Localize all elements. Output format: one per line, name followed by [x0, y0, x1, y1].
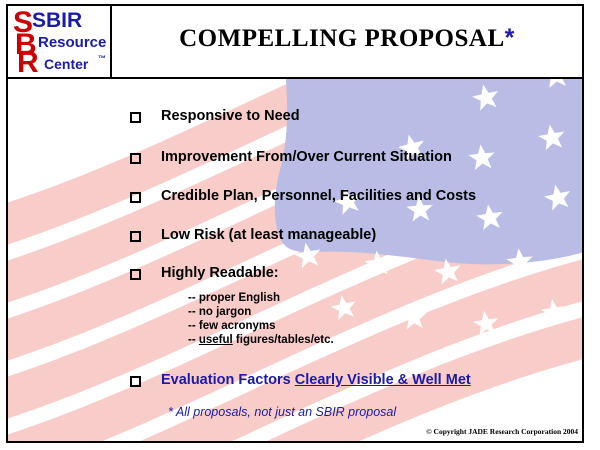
sub-list-item-label: no jargon [199, 306, 251, 318]
list-item: Credible Plan, Personnel, Facilities and… [130, 189, 476, 205]
list-item-evaluation-factors: Evaluation Factors Clearly Visible & Wel… [130, 373, 471, 389]
list-item: Improvement From/Over Current Situation [130, 150, 452, 166]
logo-text-sbir: SBIR [32, 10, 82, 31]
list-item: Responsive to Need [130, 109, 300, 125]
checkbox-square-icon [130, 376, 141, 387]
sub-list-item: -- useful figures/tables/etc. [188, 333, 334, 347]
page-title: COMPELLING PROPOSAL* [112, 24, 582, 53]
sub-list-item-label: figures/tables/etc. [233, 334, 334, 346]
evaluation-factors-text: Evaluation Factors [161, 372, 295, 388]
list-item-label: Improvement From/Over Current Situation [161, 150, 452, 166]
checkbox-square-icon [130, 269, 141, 280]
page-title-asterisk: * [505, 24, 515, 52]
list-item: Highly Readable: [130, 266, 279, 282]
list-item-label: Highly Readable: [161, 266, 279, 282]
checkbox-square-icon [130, 112, 141, 123]
sub-list: -- proper English -- no jargon -- few ac… [188, 291, 334, 347]
logo-text-resource: Resource [38, 35, 106, 50]
checkbox-square-icon [130, 231, 141, 242]
sub-list-item-label: proper English [199, 292, 280, 304]
evaluation-factors-emphasis: Clearly Visible & Well Met [295, 372, 471, 388]
sub-list-item-emphasis: useful [199, 334, 233, 346]
page-title-text: COMPELLING PROPOSAL [179, 25, 505, 52]
list-item-label: Low Risk (at least manageable) [161, 228, 376, 244]
sub-list-item-prefix: -- [188, 320, 199, 332]
list-item-label: Evaluation Factors Clearly Visible & Wel… [161, 373, 471, 389]
sub-list-item: -- few acronyms [188, 319, 334, 333]
list-item: Low Risk (at least manageable) [130, 228, 376, 244]
logo-red-letter-r: R [17, 48, 38, 78]
sub-list-item: -- no jargon [188, 305, 334, 319]
sub-list-item-label: few acronyms [199, 320, 276, 332]
sub-list-item-prefix: -- [188, 306, 199, 318]
slide-canvas: S B R SBIR Resource Center ™ COMPELLING … [0, 0, 600, 450]
footnote-text: * All proposals, not just an SBIR propos… [168, 405, 396, 419]
logo-trademark-symbol: ™ [98, 54, 106, 63]
slide-content: Responsive to Need Improvement From/Over… [0, 78, 600, 450]
sbir-resource-center-logo: S B R SBIR Resource Center ™ [10, 4, 110, 76]
checkbox-square-icon [130, 192, 141, 203]
sub-list-item-prefix: -- [188, 334, 199, 346]
copyright-notice: © Copyright JADE Research Corporation 20… [0, 427, 578, 436]
sub-list-item-prefix: -- [188, 292, 199, 304]
list-item-label: Credible Plan, Personnel, Facilities and… [161, 189, 476, 205]
checkbox-square-icon [130, 153, 141, 164]
sub-list-item: -- proper English [188, 291, 334, 305]
list-item-label: Responsive to Need [161, 109, 300, 125]
logo-text-center: Center [44, 57, 88, 71]
